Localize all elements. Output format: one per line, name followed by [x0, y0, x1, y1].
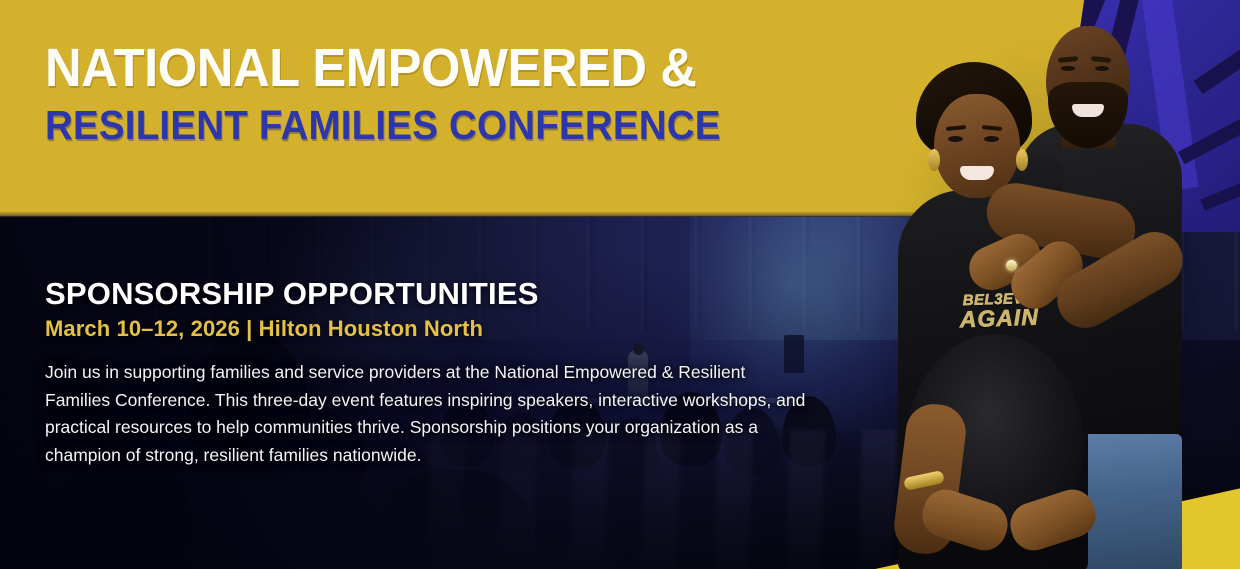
headline-block: NATIONAL EMPOWERED & RESILIENT FAMILIES …: [45, 40, 885, 147]
body-paragraph: Join us in supporting families and servi…: [45, 359, 807, 470]
geometric-ray: [1200, 173, 1240, 210]
couple-cutout-photo: BEL3EVE AGAIN: [876, 4, 1200, 569]
conference-sponsorship-banner: BEL3EVE AGAIN NATIONAL EMPOWERED & RESIL…: [0, 0, 1240, 569]
headline-line-1: NATIONAL EMPOWERED &: [45, 40, 835, 96]
headline-line-2: RESILIENT FAMILIES CONFERENCE: [45, 104, 835, 147]
sponsorship-copy-block: SPONSORSHIP OPPORTUNITIES March 10–12, 2…: [45, 278, 835, 469]
sponsorship-heading: SPONSORSHIP OPPORTUNITIES: [45, 278, 835, 311]
woman-earring: [1016, 149, 1028, 171]
event-dateline: March 10–12, 2026 | Hilton Houston North: [45, 316, 835, 342]
man-eye: [1061, 66, 1075, 71]
woman-eye: [984, 136, 999, 142]
woman-smile: [960, 166, 994, 180]
woman-earring: [928, 149, 940, 171]
wedding-ring: [1006, 260, 1017, 271]
man-smile: [1072, 104, 1104, 117]
woman-eye: [948, 136, 963, 142]
man-eye: [1095, 66, 1109, 71]
woman-head: [934, 94, 1020, 198]
geometric-ray: [1194, 42, 1240, 94]
